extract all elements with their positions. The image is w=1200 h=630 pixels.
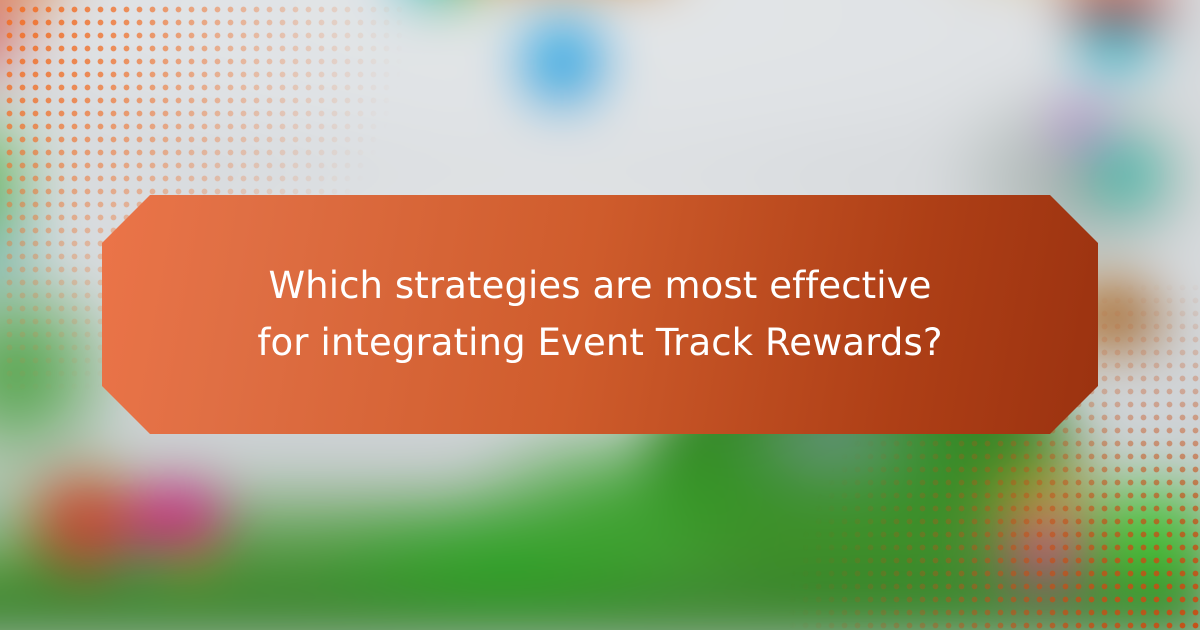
bg-blob-green-mid-bottom bbox=[452, 416, 791, 596]
bg-blob-blue-balloon bbox=[524, 19, 600, 102]
bg-blob-right-card-one-top bbox=[1069, 0, 1167, 19]
bg-blob-icon-three-magenta bbox=[129, 490, 220, 545]
bg-blob-icon-three-green bbox=[87, 460, 129, 502]
bg-blob-icon-three-blue bbox=[112, 537, 150, 573]
bg-blob-icon-two-inner bbox=[59, 506, 110, 555]
bg-blob-right-card-two bbox=[1075, 130, 1177, 219]
bg-blob-icon-three-gold bbox=[146, 539, 227, 575]
share-card: Which strategies are most effective for … bbox=[0, 0, 1200, 630]
headline-text: Which strategies are most effective for … bbox=[182, 258, 1018, 370]
headline-banner: Which strategies are most effective for … bbox=[102, 195, 1098, 434]
